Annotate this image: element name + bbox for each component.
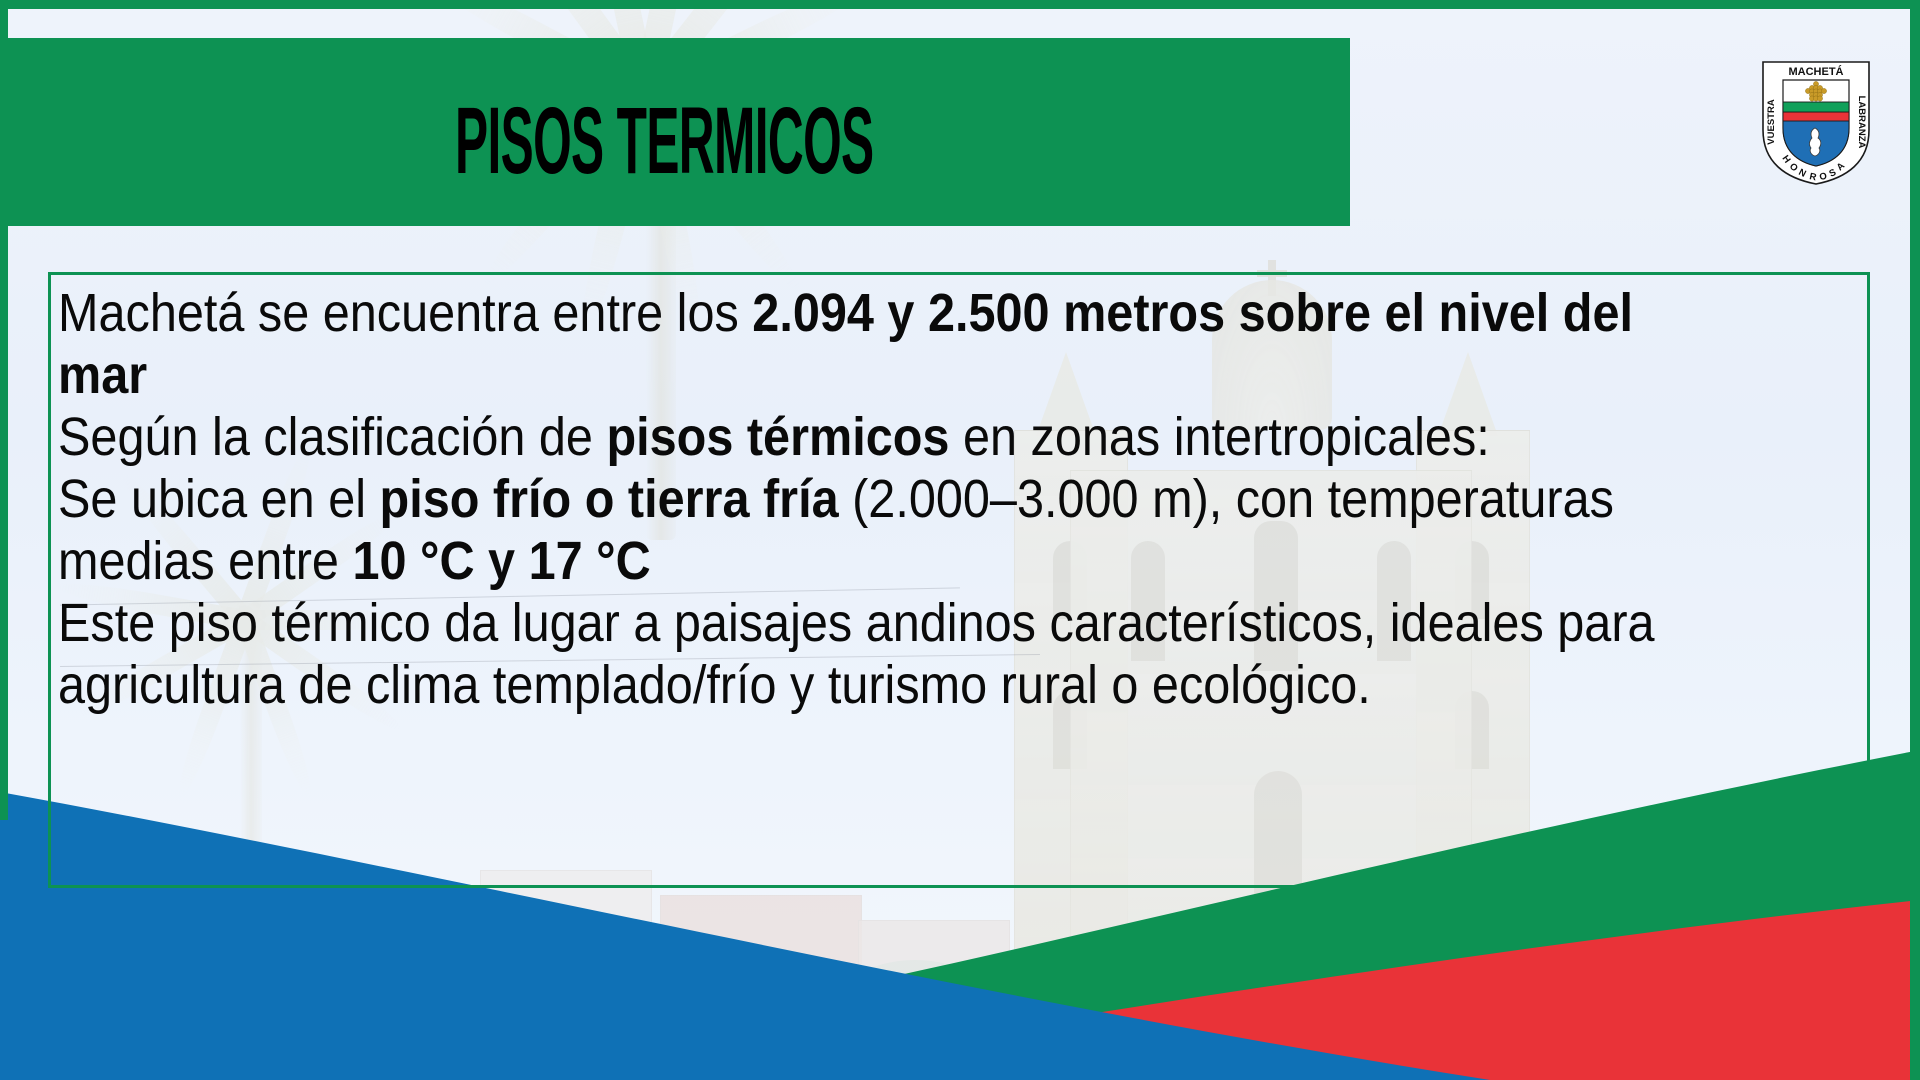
body-paragraph: Este piso térmico da lugar a paisajes an…	[58, 592, 1687, 716]
right-green-strip	[1910, 0, 1920, 1080]
municipal-map-shape	[1809, 128, 1820, 156]
body-text-run: Según la clasificación de	[58, 407, 606, 467]
body-text-emphasis: 10 °C y 17 °C	[352, 531, 650, 591]
body-paragraph: Según la clasificación de pisos térmicos…	[58, 406, 1687, 468]
crest-left-label: VUESTRA	[1766, 99, 1777, 145]
body-text-run: en zonas intertropicales:	[949, 407, 1489, 467]
crest-right-label: LABRANZA	[1856, 96, 1867, 149]
crest-top-label: MACHETÁ	[1789, 65, 1844, 78]
body-text-run: Este piso térmico da lugar a paisajes an…	[58, 593, 1655, 715]
slide-canvas: PISOS TERMICOS MACHETÁ VUESTRA LABRANZA	[0, 0, 1920, 1080]
page-title: PISOS TERMICOS	[455, 94, 873, 188]
body-text-emphasis: pisos térmicos	[606, 407, 949, 467]
top-green-strip	[0, 0, 1920, 9]
body-text-run: Machetá se encuentra entre los	[58, 283, 752, 343]
body-paragraph: Se ubica en el piso frío o tierra fría (…	[58, 468, 1687, 592]
body-text: Machetá se encuentra entre los 2.094 y 2…	[58, 282, 1687, 716]
body-paragraph: Machetá se encuentra entre los 2.094 y 2…	[58, 282, 1687, 406]
body-text-run: Se ubica en el	[58, 469, 380, 529]
body-text-emphasis: piso frío o tierra fría	[380, 469, 839, 529]
coat-of-arms-icon: MACHETÁ VUESTRA LABRANZA H O N R O S A	[1757, 58, 1875, 186]
